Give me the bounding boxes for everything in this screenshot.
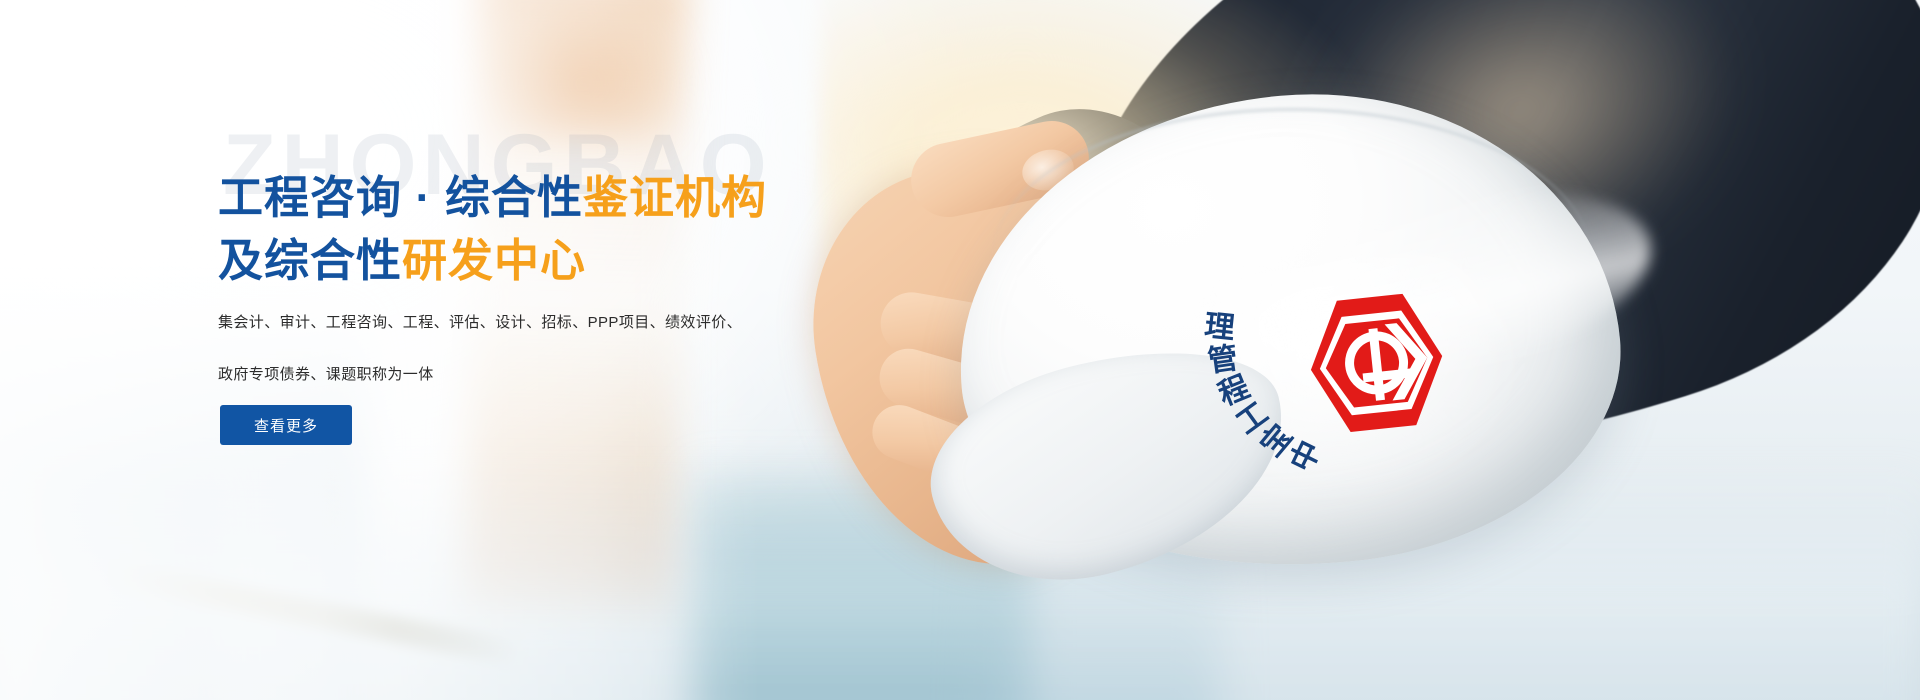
headline-line-1-orange: 鉴证机构 [583, 172, 767, 223]
headline-line-1-blue: 工程咨询 · 综合性 [218, 172, 583, 223]
view-more-button[interactable]: 查看更多 [220, 405, 352, 445]
description-line-1: 集会计、审计、工程咨询、工程、评估、设计、招标、PPP项目、绩效评价、 [218, 310, 818, 336]
headline-line-1: 工程咨询 · 综合性鉴证机构 [218, 166, 1038, 229]
logo-char-5: 理 [1203, 300, 1237, 347]
hero-headline: 工程咨询 · 综合性鉴证机构 及综合性研发中心 [218, 166, 1038, 292]
helmet-company-logo: 中 宝 工 程 管 理 [1175, 164, 1535, 497]
hero-banner: 中 宝 工 程 管 理 ZHONGBAO 工程咨询 · 综合性鉴证机构 及综合性… [0, 0, 1920, 700]
helmet-logo-text: 中 宝 工 程 管 理 [1175, 164, 1535, 497]
hero-description: 集会计、审计、工程咨询、工程、评估、设计、招标、PPP项目、绩效评价、 政府专项… [218, 310, 818, 414]
description-line-2: 政府专项债券、课题职称为一体 [218, 362, 818, 388]
headline-line-2-orange: 研发中心 [402, 235, 586, 286]
hero-content: ZHONGBAO 工程咨询 · 综合性鉴证机构 及综合性研发中心 集会计、审计、… [218, 0, 1038, 700]
headline-line-2-blue: 及综合性 [218, 235, 402, 286]
headline-line-2: 及综合性研发中心 [218, 229, 1038, 292]
